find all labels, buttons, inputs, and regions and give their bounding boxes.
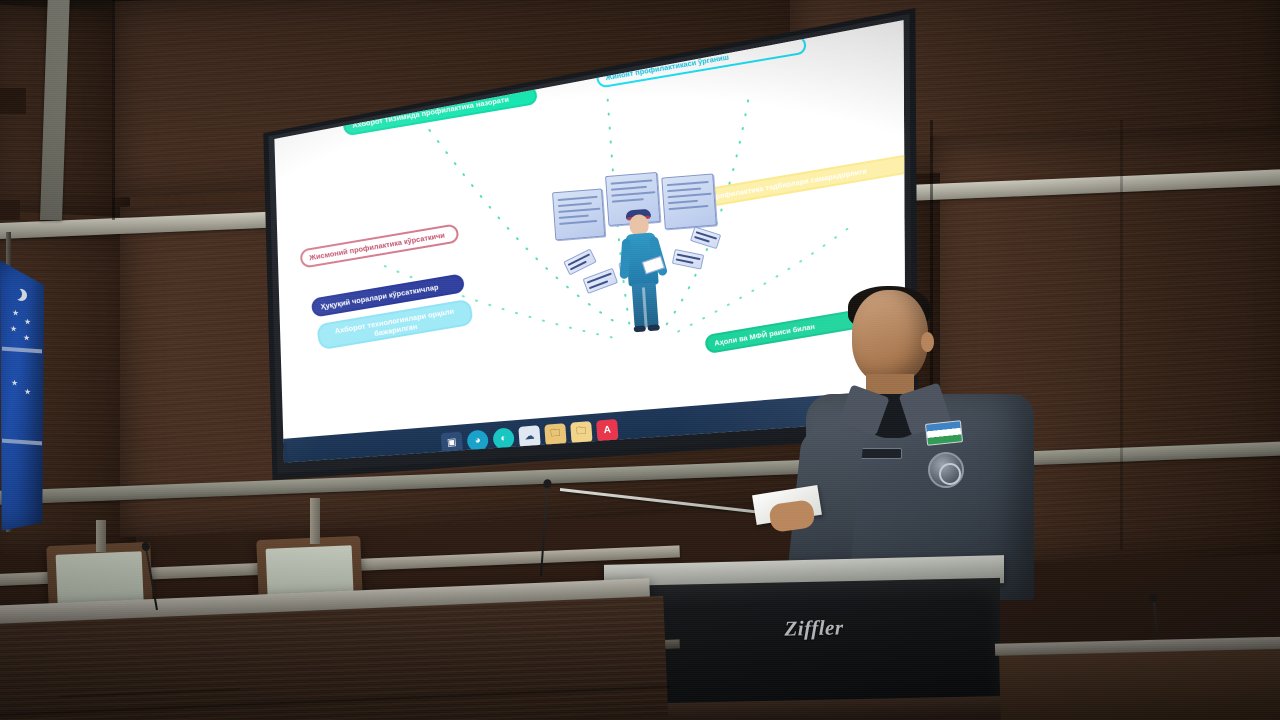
- browser-icon[interactable]: ◐: [492, 427, 514, 450]
- panel-seam-3: [1120, 120, 1123, 550]
- panel-seam-1: [112, 0, 115, 220]
- officer-legs: [632, 282, 659, 328]
- illustration-doc-1: [563, 249, 597, 276]
- uzbekistan-flag: ★ ★ ★ ★ ★ ★: [0, 260, 44, 533]
- uzbekistan-flag-patch-icon: [925, 420, 963, 446]
- wall-recess-box-2: [0, 200, 20, 220]
- flag-crescent-icon: [10, 287, 22, 300]
- flag-star-icon: ★: [24, 318, 31, 327]
- presenter-head: [852, 290, 928, 384]
- flag-stripe-top: [2, 347, 42, 354]
- folder-icon-1[interactable]: 🗀: [544, 423, 566, 446]
- cloud-glyph: ☁: [524, 431, 535, 443]
- cloud-storage-icon[interactable]: ☁: [518, 425, 540, 448]
- presenter-ear: [921, 332, 934, 352]
- edge-browser-icon[interactable]: ◕: [467, 429, 489, 452]
- task-view-glyph: ▣: [447, 437, 457, 449]
- podium-brand-label: Ziffler: [744, 615, 884, 643]
- browser-glyph: ◐: [500, 433, 507, 444]
- presenter: [800, 290, 1050, 600]
- flag-star-icon: ★: [12, 309, 19, 318]
- folder-glyph-2: 🗀: [576, 424, 587, 442]
- illustration-screen-right: [661, 173, 716, 229]
- flag-star-icon: ★: [23, 334, 30, 343]
- officer-shoe-right: [648, 324, 660, 331]
- chair-center-post: [310, 498, 320, 544]
- flag-star-icon: ★: [10, 325, 17, 334]
- slide-illustration: [550, 151, 732, 344]
- folder-glyph-1: 🗀: [550, 426, 561, 444]
- right-desk-stub: [999, 644, 1280, 720]
- illustration-officer: [615, 200, 670, 333]
- flag-star-icon: ★: [24, 388, 31, 397]
- flag-star-icon: ★: [11, 379, 18, 388]
- officer-shoe-left: [634, 325, 646, 332]
- flag-stripe-bottom: [2, 439, 42, 446]
- illustration-doc-2: [583, 268, 619, 294]
- illustration-screen-left: [552, 188, 605, 240]
- pdf-reader-icon[interactable]: A: [596, 419, 618, 442]
- folder-icon-2[interactable]: 🗀: [570, 421, 592, 444]
- chair-left-post: [96, 520, 106, 552]
- police-insignia-icon: [928, 452, 964, 488]
- pdf-glyph: A: [603, 425, 611, 437]
- conference-room-scene: ★ ★ ★ ★ ★ ★ Участковый инспекторлар ахбо…: [0, 0, 1280, 720]
- illustration-doc-3: [672, 249, 704, 270]
- illustration-doc-4: [690, 226, 721, 249]
- wall-recess-box: [0, 88, 26, 114]
- edge-glyph: ◕: [474, 435, 481, 446]
